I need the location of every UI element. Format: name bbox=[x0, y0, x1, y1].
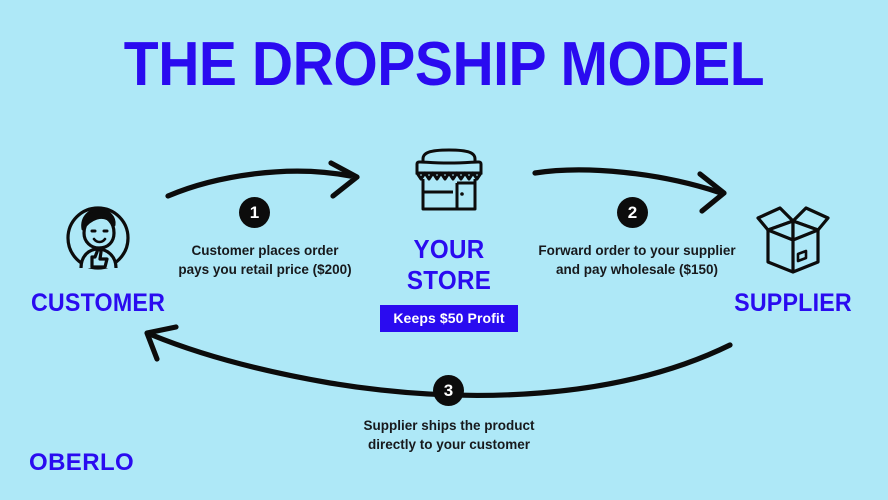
step-2-caption: Forward order to your supplier and pay w… bbox=[527, 241, 747, 279]
node-store-label: YOUR STORE bbox=[369, 234, 529, 296]
step-2-caption-line1: Forward order to your supplier bbox=[527, 241, 747, 260]
node-your-store: YOUR STORE Keeps $50 Profit bbox=[363, 140, 535, 332]
oberlo-logo: OBERLO bbox=[29, 449, 134, 477]
step-3-caption-line1: Supplier ships the product bbox=[344, 416, 554, 435]
step-2-caption-line2: and pay wholesale ($150) bbox=[527, 260, 747, 279]
step-3-caption-line2: directly to your customer bbox=[344, 435, 554, 454]
step-number-1: 1 bbox=[239, 197, 270, 228]
step-number-2: 2 bbox=[617, 197, 648, 228]
storefront-icon bbox=[363, 140, 535, 218]
step-3-caption: Supplier ships the product directly to y… bbox=[344, 416, 554, 454]
step-1-caption-line1: Customer places order bbox=[165, 241, 365, 260]
step-1-caption: Customer places order pays you retail pr… bbox=[165, 241, 365, 279]
profit-badge: Keeps $50 Profit bbox=[380, 305, 517, 332]
step-number-3: 3 bbox=[433, 375, 464, 406]
step-1-caption-line2: pays you retail price ($200) bbox=[165, 260, 365, 279]
customer-avatar-thumbs-up-icon bbox=[13, 188, 183, 283]
infographic-canvas: THE DROPSHIP MODEL bbox=[0, 0, 888, 500]
node-supplier-label: SUPPLIER bbox=[714, 289, 872, 318]
node-customer: CUSTOMER bbox=[13, 188, 183, 318]
page-title: THE DROPSHIP MODEL bbox=[36, 34, 853, 96]
arrow-customer-to-store-icon bbox=[168, 163, 357, 196]
node-customer-label: CUSTOMER bbox=[19, 289, 177, 318]
